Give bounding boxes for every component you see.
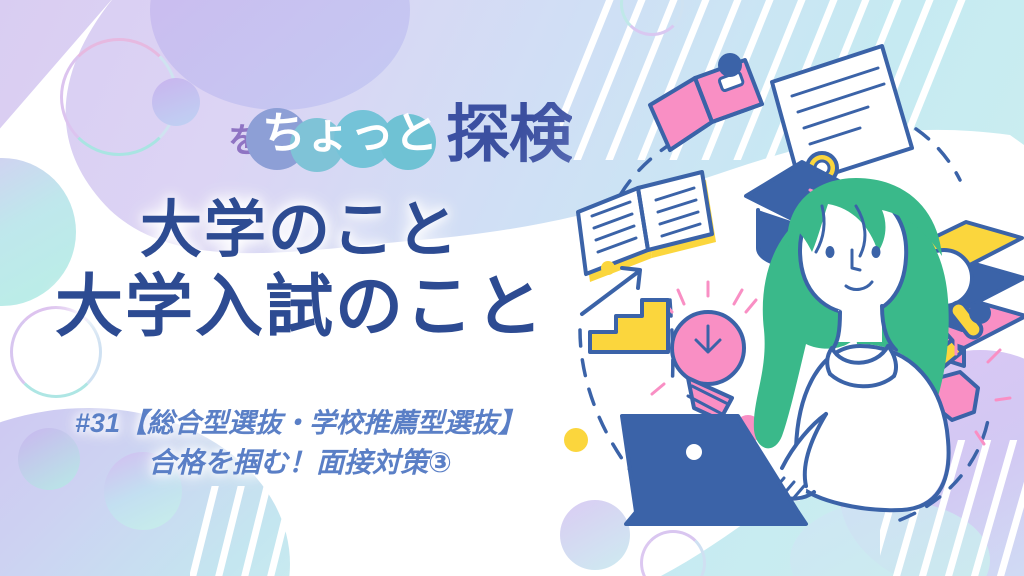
subtitle-line-2: 合格を掴む！面接対策③ xyxy=(0,443,600,484)
program-logo: 未来 を ちょっと 探検 xyxy=(104,96,572,172)
banner-canvas: 未来 を ちょっと 探検 大学のこと 大学入試のこと #31【総合型選抜・学校推… xyxy=(0,0,1024,576)
logo-text-chotto: ちょっと xyxy=(256,112,444,156)
dot-yellow-far-left xyxy=(601,261,615,275)
open-book-white-icon xyxy=(578,172,716,282)
main-title: 大学のこと 大学入試のこと xyxy=(0,196,600,346)
stairs-chart-icon xyxy=(582,268,668,352)
dot-navy-right xyxy=(969,302,991,324)
open-book-pink-icon xyxy=(650,60,762,150)
logo-text-tanken: 探検 xyxy=(446,102,572,166)
illustration-group: .ol{fill:none;stroke:#3b63a8;stroke-widt… xyxy=(560,0,1024,576)
dot-navy-top xyxy=(718,53,742,77)
logo-text-mirai: 未来 xyxy=(104,101,232,167)
dot-yellow-left xyxy=(564,428,588,452)
title-line-2: 大学入試のこと xyxy=(0,269,600,347)
title-line-1: 大学のこと xyxy=(0,196,600,267)
logo-bubble-group: ちょっと xyxy=(256,112,444,156)
stripes-bottom-left xyxy=(190,486,340,576)
subtitle-line-1: #31【総合型選抜・学校推薦型選抜】 xyxy=(0,404,600,443)
episode-subtitle: #31【総合型選抜・学校推薦型選抜】 合格を掴む！面接対策③ xyxy=(0,404,600,484)
